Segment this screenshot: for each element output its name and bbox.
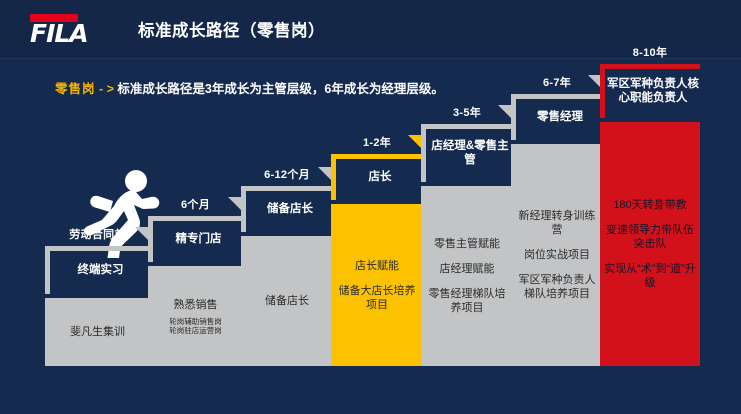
- subtitle-text: 标准成长路径是3年成长为主管层级，6年成长为经理层级。: [117, 82, 443, 96]
- step-6[interactable]: 6-7年 零售经理 新经理转身训练营 岗位实战项目 军区军种负责人梯队培养项目: [511, 74, 603, 366]
- step-5-title: 店经理&零售主管: [421, 126, 513, 180]
- step-5-arrow-icon: [498, 105, 511, 118]
- step-1-title: 终端实习: [45, 248, 150, 292]
- step-3-line-1: 储备店长: [265, 294, 309, 308]
- step-2[interactable]: 6个月 精专门店 熟悉销售 轮岗辅助销售岗 轮岗驻店运营岗: [148, 196, 243, 366]
- step-2-body: 熟悉销售 轮岗辅助销售岗 轮岗驻店运营岗: [148, 266, 243, 366]
- step-5-line-2: 店经理赋能: [440, 262, 495, 276]
- step-1-arrow-icon: [135, 227, 148, 240]
- step-6-line-3: 军区军种负责人梯队培养项目: [515, 273, 599, 301]
- logo-wordmark: FILA: [30, 21, 110, 46]
- step-7-line-1: 180天转身带教: [613, 198, 686, 212]
- step-3-body: 储备店长: [241, 236, 333, 366]
- subtitle: 零售岗 - > 标准成长路径是3年成长为主管层级，6年成长为经理层级。: [55, 78, 444, 97]
- step-4-title: 店长: [331, 156, 423, 198]
- step-2-title: 精专门店: [148, 218, 243, 260]
- step-7-body: 180天转身带教 变速领导力带队伍突击队 实现从“术”到“道”升级: [600, 122, 700, 366]
- step-4[interactable]: 1-2年 店长 店长赋能 储备大店长培养项目: [331, 134, 423, 366]
- step-1-body: 斐凡生集训: [45, 298, 150, 366]
- step-4-line-1: 店长赋能: [355, 259, 399, 273]
- page-title: 标准成长路径（零售岗）: [138, 17, 325, 41]
- step-5[interactable]: 3-5年 店经理&零售主管 零售主管赋能 店经理赋能 零售经理梯队培养项目: [421, 104, 513, 366]
- step-5-body: 零售主管赋能 店经理赋能 零售经理梯队培养项目: [421, 186, 513, 366]
- subtitle-arrow: - >: [99, 82, 114, 96]
- step-4-arrow-icon: [408, 135, 421, 148]
- step-2-sub-2: 轮岗驻店运营岗: [169, 326, 222, 335]
- step-2-arrow-icon: [228, 197, 241, 210]
- subtitle-highlight: 零售岗: [55, 82, 96, 96]
- step-6-line-2: 岗位实战项目: [524, 248, 590, 262]
- step-4-line-2: 储备大店长培养项目: [335, 284, 419, 312]
- step-3-arrow-icon: [318, 167, 331, 180]
- step-5-line-3: 零售经理梯队培养项目: [425, 287, 509, 315]
- step-3-title: 储备店长: [241, 188, 333, 230]
- step-6-line-1: 新经理转身训练营: [515, 209, 599, 237]
- step-3[interactable]: 6-12个月 储备店长 储备店长: [241, 166, 333, 366]
- step-2-line-1: 熟悉销售: [174, 298, 218, 312]
- step-6-title: 零售经理: [511, 96, 603, 138]
- step-7-period: 8-10年: [600, 44, 700, 60]
- step-1-line-1: 斐凡生集训: [70, 325, 125, 339]
- step-7[interactable]: 8-10年 军区军种负责人核心职能负责人 180天转身带教 变速领导力带队伍突击…: [600, 44, 700, 366]
- step-4-body: 店长赋能 储备大店长培养项目: [331, 204, 423, 366]
- step-7-line-2: 变速领导力带队伍突击队: [604, 223, 696, 251]
- step-6-body: 新经理转身训练营 岗位实战项目 军区军种负责人梯队培养项目: [511, 144, 603, 366]
- step-7-title: 军区军种负责人核心职能负责人: [600, 66, 700, 116]
- step-7-line-3: 实现从“术”到“道”升级: [604, 262, 696, 290]
- step-5-line-1: 零售主管赋能: [434, 237, 500, 251]
- fila-logo: FILA: [30, 12, 110, 46]
- step-2-sub-1: 轮岗辅助销售岗: [169, 317, 222, 326]
- step-1[interactable]: 劳动合同前 终端实习 斐凡生集训: [45, 226, 150, 366]
